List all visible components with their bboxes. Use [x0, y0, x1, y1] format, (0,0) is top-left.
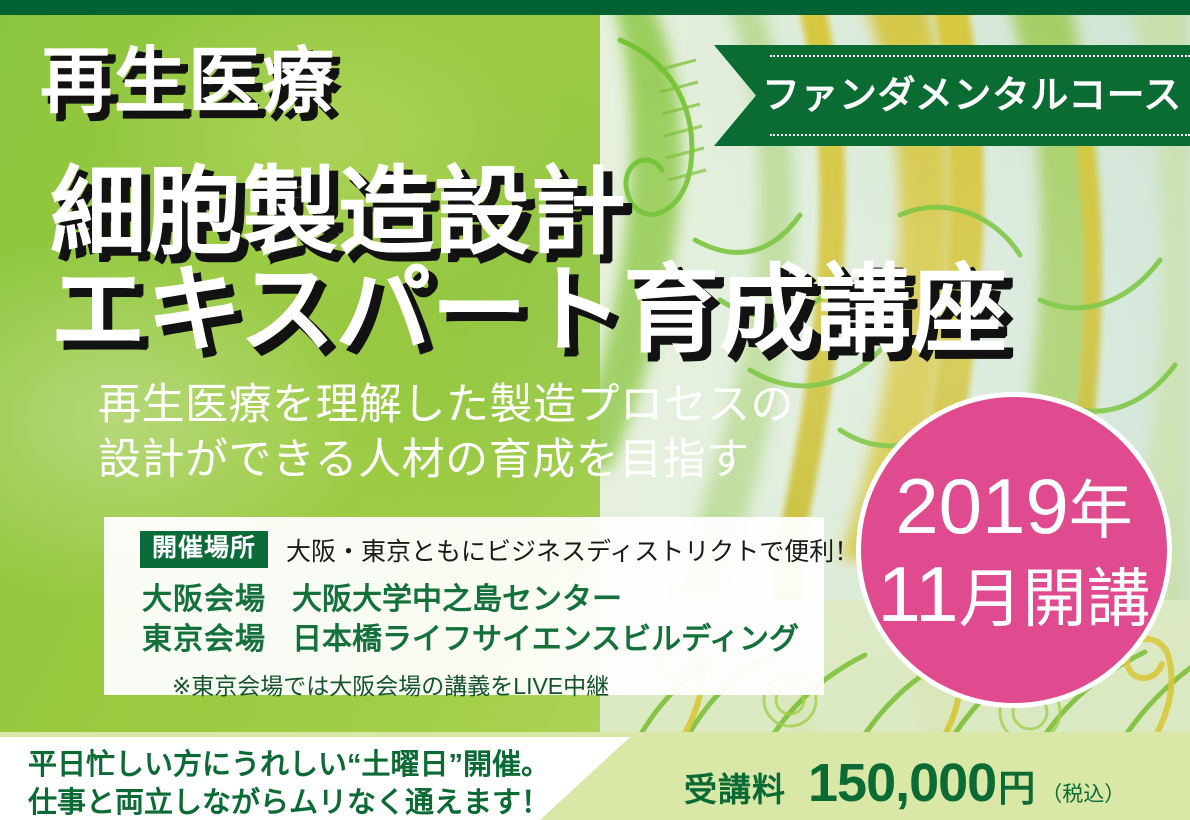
venue-footnote: ※東京会場では大阪会場の講義をLIVE中継: [104, 667, 824, 701]
badge-month-number: 11: [878, 550, 959, 638]
fee-currency: 円: [998, 758, 1035, 812]
kicker-heading: 再生医療: [40, 46, 336, 118]
start-date-badge: 2019年 11月開講: [856, 392, 1172, 708]
venue-header-row: 開催場所 大阪・東京ともにビジネスディストリクトで便利！: [104, 531, 824, 568]
badge-month-unit: 月開講: [958, 563, 1150, 635]
venue-note: 大阪・東京ともにビジネスディストリクトで便利！: [286, 532, 859, 568]
footer-band: 平日忙しい方にうれしい“土曜日”開催。 仕事と両立しながらムリなく通えます！ 受…: [0, 732, 1190, 820]
list-item: 大阪会場 大阪大学中之島センター: [142, 580, 824, 620]
top-accent-bar: [0, 0, 1190, 15]
ribbon-dotted-line-bottom: [770, 134, 1190, 136]
lead-paragraph: 再生医療を理解した製造プロセスの 設計ができる人材の育成を目指す: [98, 378, 794, 488]
venue-place-osaka: 大阪大学中之島センター: [292, 580, 622, 620]
fee-amount: 150,000: [808, 752, 996, 814]
badge-year-number: 2019: [895, 462, 1069, 550]
badge-year-unit: 年: [1069, 475, 1133, 547]
list-item: 東京会場 日本橋ライフサイエンスビルディング: [142, 620, 824, 660]
title-line-2: エキスパート育成講座: [50, 264, 1007, 358]
venue-place-tokyo: 日本橋ライフサイエンスビルディング: [292, 620, 799, 660]
lead-line-2: 設計ができる人材の育成を目指す: [98, 433, 794, 488]
course-ribbon-banner: ファンダメンタルコース: [714, 45, 1190, 146]
badge-year-line: 2019年: [895, 464, 1133, 548]
title-line-1: 細胞製造設計: [50, 159, 626, 266]
venue-city-osaka: 大阪会場: [142, 580, 292, 620]
footer-note-line-1: 平日忙しい方にうれしい“土曜日”開催。: [28, 746, 550, 784]
venue-badge: 開催場所: [140, 531, 268, 568]
poster-canvas: ファンダメンタルコース 再生医療 細胞製造設計 エキスパート育成講座 再生医療を…: [0, 0, 1190, 820]
ribbon-dotted-line-top: [770, 55, 1190, 57]
venue-city-tokyo: 東京会場: [142, 620, 292, 660]
footer-schedule-note: 平日忙しい方にうれしい“土曜日”開催。 仕事と両立しながらムリなく通えます！: [28, 746, 550, 820]
fee-block: 受講料 150,000 円 （税込）: [684, 752, 1125, 814]
lead-line-1: 再生医療を理解した製造プロセスの: [98, 378, 794, 433]
venue-list: 大阪会場 大阪大学中之島センター 東京会場 日本橋ライフサイエンスビルディング: [104, 580, 824, 659]
footer-note-line-2: 仕事と両立しながらムリなく通えます！: [28, 784, 550, 820]
badge-month-line: 11月開講: [878, 552, 1151, 636]
venue-info-panel: 開催場所 大阪・東京ともにビジネスディストリクトで便利！ 大阪会場 大阪大学中之…: [104, 517, 824, 695]
fee-label: 受講料: [684, 763, 786, 811]
ribbon-label: ファンダメンタルコース: [714, 77, 1182, 115]
fee-tax-note: （税込）: [1041, 778, 1125, 808]
page-title: 細胞製造設計 エキスパート育成講座: [50, 166, 1007, 358]
